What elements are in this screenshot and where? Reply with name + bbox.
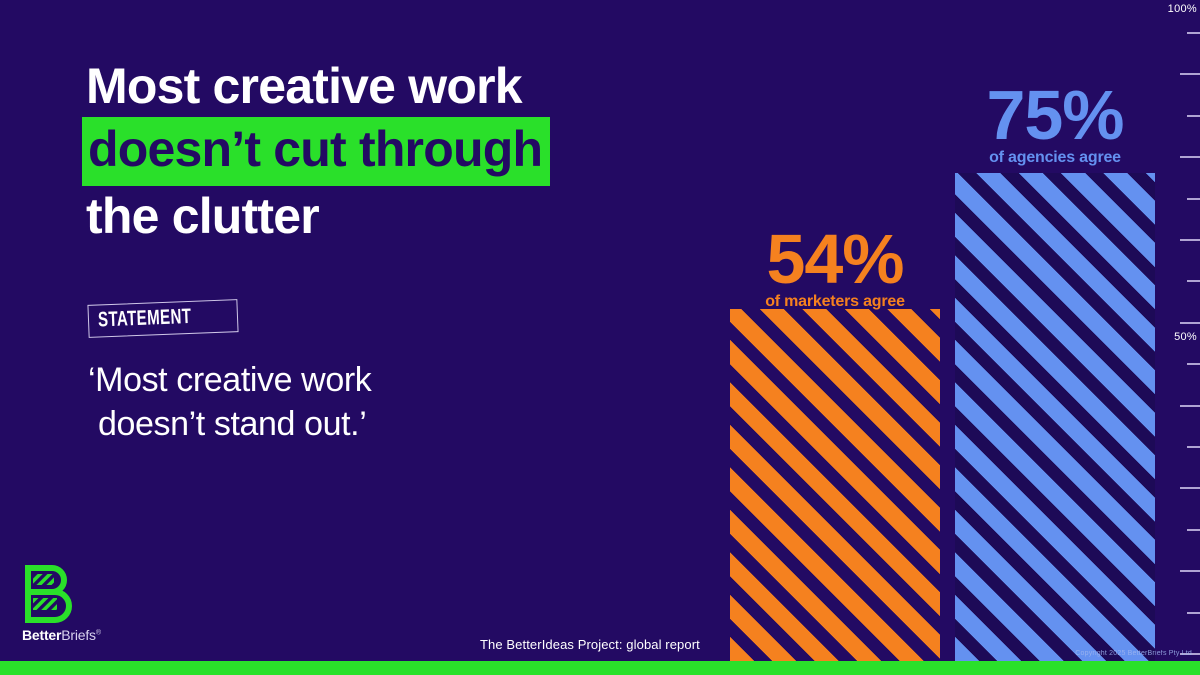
bar-agencies <box>955 173 1155 661</box>
quote-line-2: doesn’t stand out.’ <box>88 402 371 446</box>
axis-tick <box>1187 198 1200 200</box>
axis-tick-label-50: 50% <box>1174 331 1197 343</box>
logo-wordmark: BetterBriefs® <box>22 627 101 643</box>
logo-word-briefs: Briefs <box>61 627 96 643</box>
headline-line-3: the clutter <box>86 186 550 247</box>
axis-tick <box>1187 363 1200 365</box>
quote-line-1: ‘Most creative work <box>88 358 371 402</box>
headline-line-2-highlight: doesn’t cut through <box>82 117 550 186</box>
axis-tick <box>1180 73 1200 75</box>
bar-category-marketers: of marketers agree <box>718 293 952 311</box>
axis-tick <box>1180 156 1200 158</box>
betterbriefs-b-mark <box>22 565 76 623</box>
betterbriefs-logo: BetterBriefs® <box>22 565 101 643</box>
copyright-notice: Copyright 2025 BetterBriefs Pty Ltd <box>1075 650 1192 657</box>
bar-category-agencies: of agencies agree <box>946 149 1164 167</box>
axis-tick <box>1187 529 1200 531</box>
statement-quote: ‘Most creative work doesn’t stand out.’ <box>88 358 371 446</box>
axis-tick <box>1187 280 1200 282</box>
axis-tick <box>1187 612 1200 614</box>
logo-word-better: Better <box>22 627 61 643</box>
axis-tick <box>1187 115 1200 117</box>
axis-tick <box>1187 32 1200 34</box>
axis-tick <box>1180 487 1200 489</box>
bar-value-agencies: 75% <box>946 82 1164 149</box>
axis-tick-label-100: 100% <box>1168 3 1197 15</box>
footer-caption: The BetterIdeas Project: global report <box>480 637 700 652</box>
bar-value-marketers: 54% <box>718 226 952 293</box>
chart-y-axis: 100% 50% <box>1160 0 1200 675</box>
axis-tick <box>1180 239 1200 241</box>
bar-label-marketers: 54% of marketers agree <box>718 226 952 310</box>
axis-tick <box>1180 405 1200 407</box>
statement-badge: STATEMENT <box>87 299 238 338</box>
axis-tick <box>1180 570 1200 572</box>
baseline-strip <box>0 661 1200 675</box>
axis-tick <box>1187 446 1200 448</box>
axis-tick <box>1180 322 1200 324</box>
registered-trademark-icon: ® <box>96 629 101 636</box>
page-title: Most creative work doesn’t cut through t… <box>86 56 550 247</box>
headline-line-1: Most creative work <box>86 56 550 117</box>
slide-canvas: Most creative work doesn’t cut through t… <box>0 0 1200 675</box>
bar-label-agencies: 75% of agencies agree <box>946 82 1164 166</box>
statement-badge-label: STATEMENT <box>98 305 192 333</box>
bar-marketers <box>730 309 940 661</box>
